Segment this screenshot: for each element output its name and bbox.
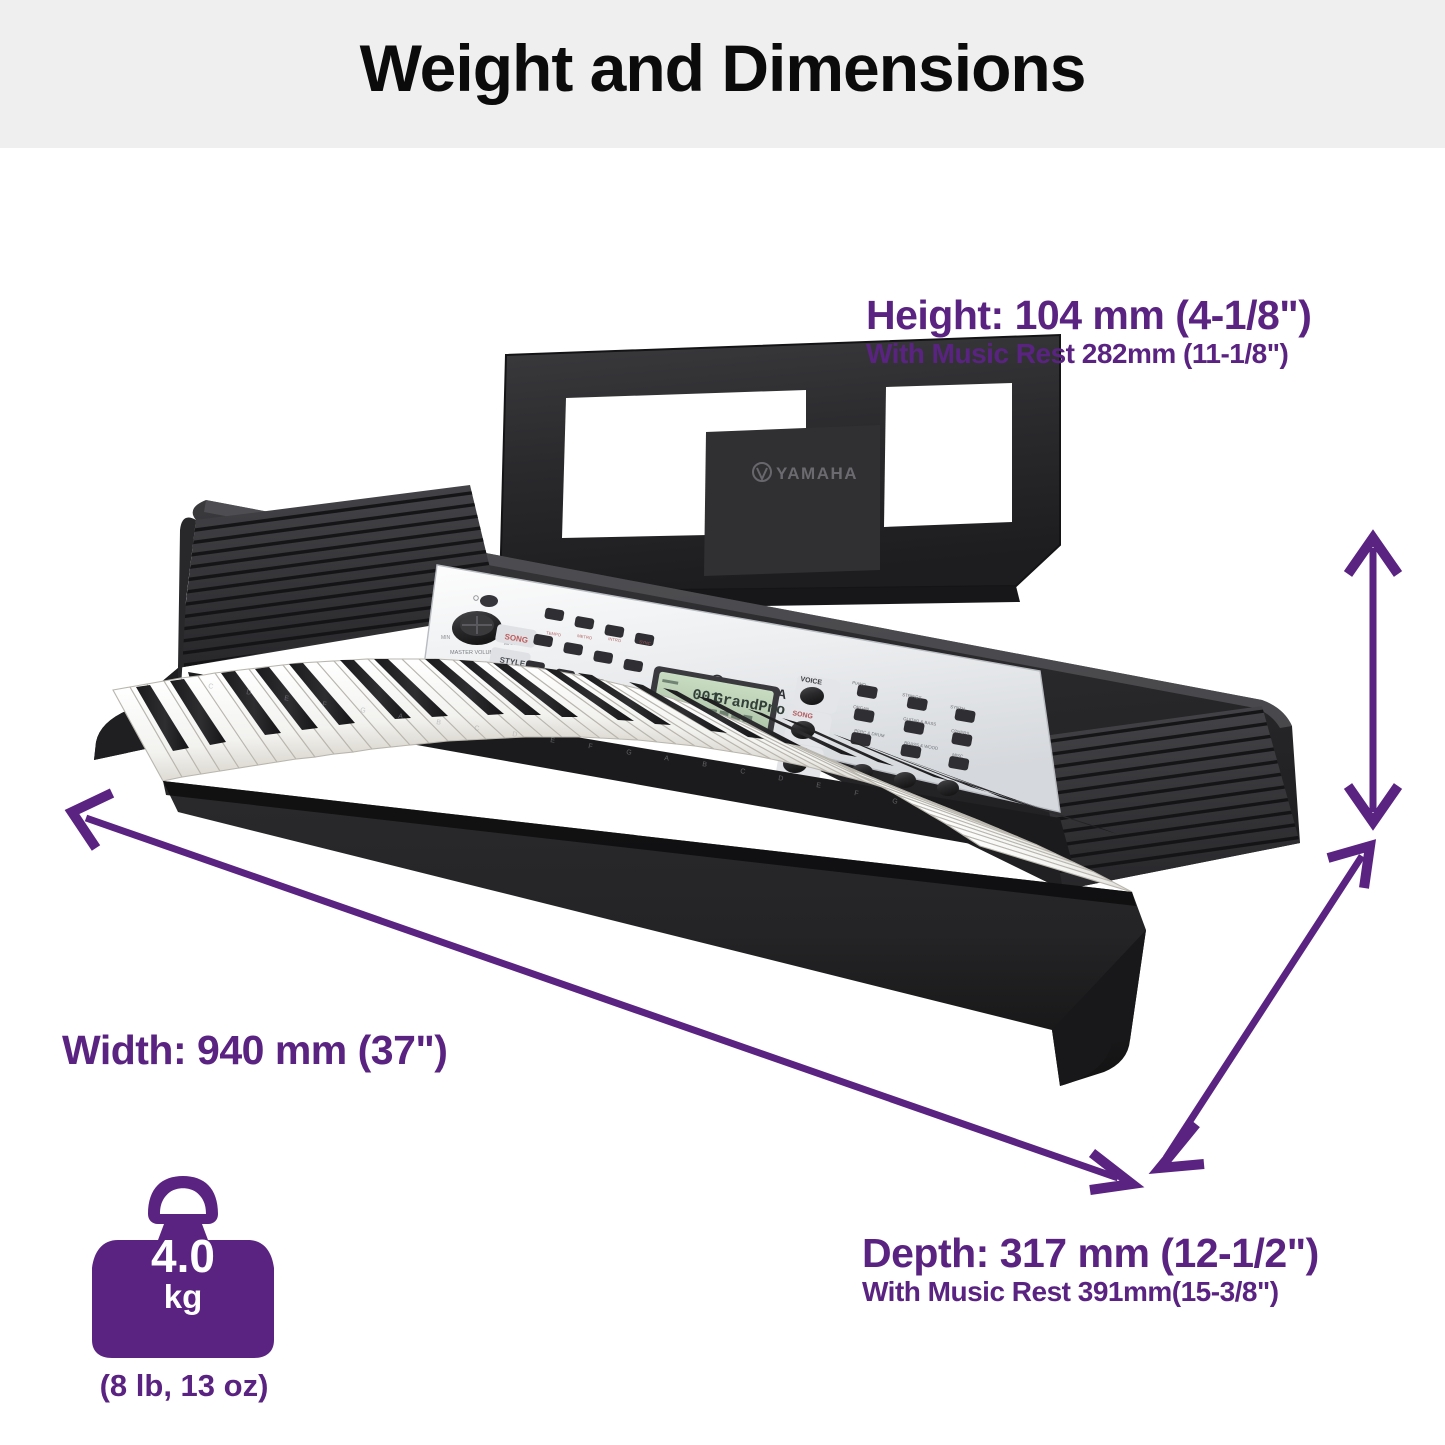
svg-text:D: D [512,731,518,739]
height-secondary-text: With Music Rest 282mm (11-1/8") [866,336,1311,371]
music-rest: YAMAHA [498,335,1060,610]
height-annotation: Height: 104 mm (4-1/8") With Music Rest … [866,295,1311,371]
svg-text:C: C [474,725,480,733]
width-annotation: Width: 940 mm (37") [62,1027,447,1074]
svg-text:C: C [208,683,214,691]
svg-text:MIN: MIN [441,635,451,641]
weight-kettlebell-icon [78,1168,288,1364]
svg-text:D: D [246,689,252,697]
weight-badge: 4.0 kg (8 lb, 13 oz) [78,1168,303,1418]
svg-text:G: G [360,707,366,715]
depth-primary-text: Depth: 317 mm (12-1/2") [862,1233,1319,1274]
weight-imperial-text: (8 lb, 13 oz) [70,1368,298,1404]
depth-annotation: Depth: 317 mm (12-1/2") With Music Rest … [862,1233,1319,1309]
svg-text:C: C [740,768,746,776]
height-primary-text: Height: 104 mm (4-1/8") [866,295,1311,336]
svg-text:G: G [626,749,632,757]
svg-text:YAMAHA: YAMAHA [776,464,858,483]
dimensions-infographic: Weight and Dimensions [0,0,1445,1445]
svg-text:D: D [778,775,784,783]
svg-text:G: G [892,798,898,806]
depth-secondary-text: With Music Rest 391mm(15-3/8") [862,1274,1319,1309]
master-volume-knob[interactable] [452,611,502,645]
